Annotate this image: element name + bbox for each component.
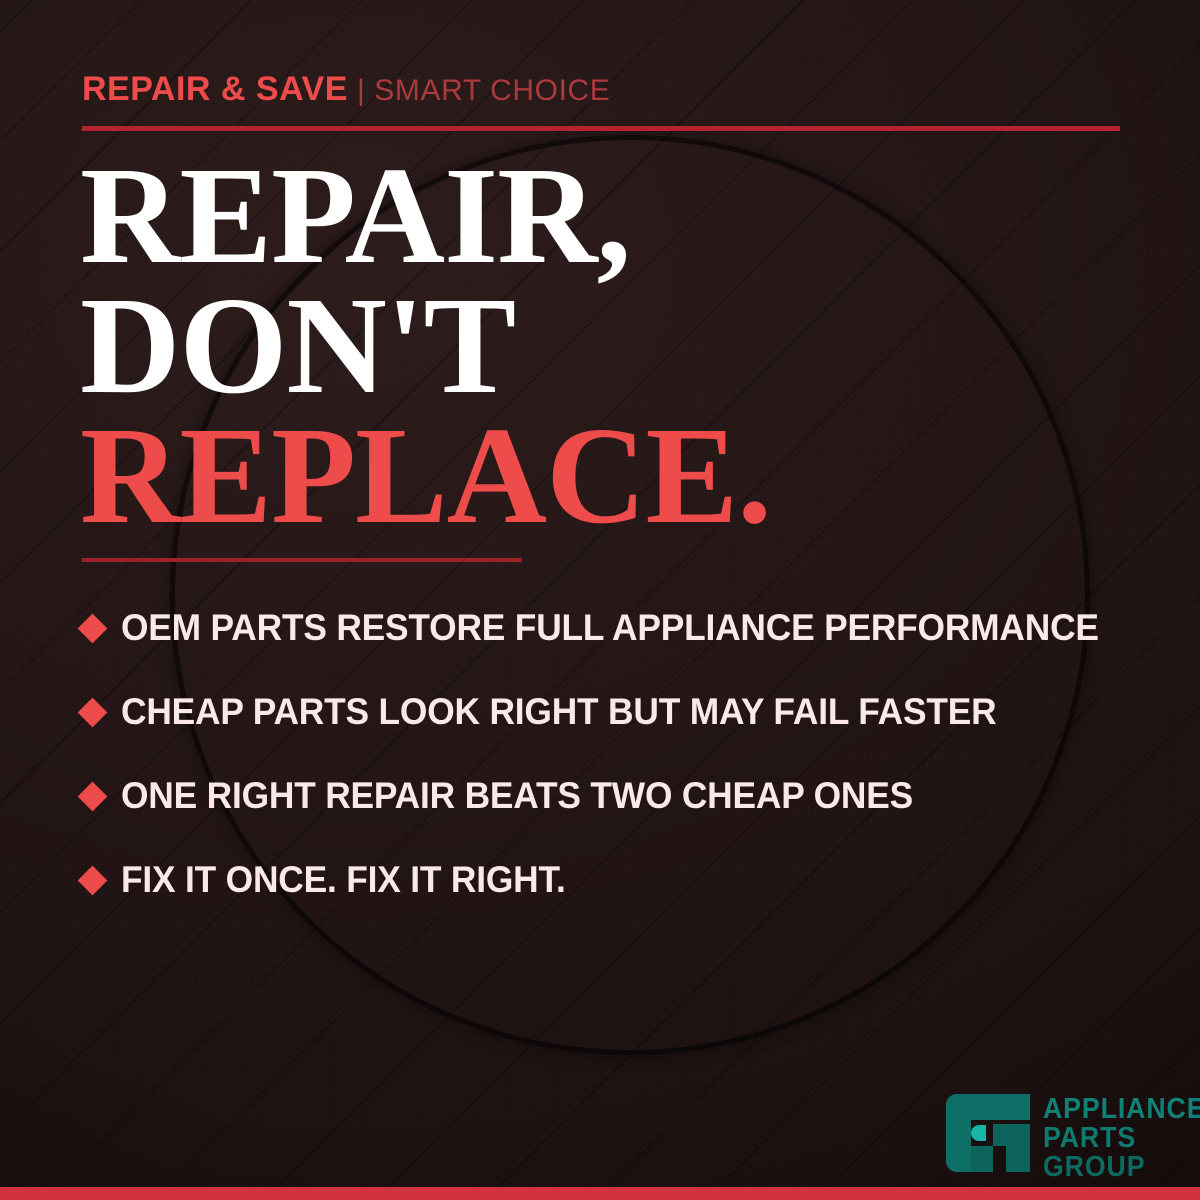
eyebrow-main-label: REPAIR & SAVE (82, 70, 348, 108)
list-item-label: OEM PARTS RESTORE FULL APPLIANCE PERFORM… (121, 607, 1099, 649)
diamond-bullet-icon (78, 613, 108, 643)
list-item: ONE RIGHT REPAIR BEATS TWO CHEAP ONES (82, 754, 1152, 838)
page-title: REPAIR, DON'T REPLACE. (80, 152, 771, 542)
list-item: OEM PARTS RESTORE FULL APPLIANCE PERFORM… (82, 586, 1152, 670)
list-item-label: CHEAP PARTS LOOK RIGHT BUT MAY FAIL FAST… (121, 691, 996, 733)
poster-content: REPAIR & SAVE| SMART CHOICE REPAIR, DON'… (0, 0, 1200, 1200)
headline-line-2: DON'T (80, 282, 771, 412)
headline-line-1: REPAIR, (80, 152, 771, 282)
brand-word-group: GROUP (1043, 1153, 1200, 1182)
brand-wordmark: APPLIANCE PARTS GROUP (1043, 1095, 1200, 1182)
brand-word-appliance: APPLIANCE (1043, 1095, 1200, 1124)
list-item: CHEAP PARTS LOOK RIGHT BUT MAY FAIL FAST… (82, 670, 1152, 754)
headline-line-3: REPLACE. (80, 412, 771, 542)
headline-divider-rule (82, 558, 522, 562)
diamond-bullet-icon (78, 697, 108, 727)
list-item-label: FIX IT ONCE. FIX IT RIGHT. (121, 859, 566, 901)
list-item-label: ONE RIGHT REPAIR BEATS TWO CHEAP ONES (121, 775, 913, 817)
eyebrow: REPAIR & SAVE| SMART CHOICE (82, 72, 610, 106)
benefits-list: OEM PARTS RESTORE FULL APPLIANCE PERFORM… (82, 586, 1152, 922)
promo-poster: REPAIR & SAVE| SMART CHOICE REPAIR, DON'… (0, 0, 1200, 1200)
diamond-bullet-icon (78, 781, 108, 811)
diamond-bullet-icon (78, 865, 108, 895)
list-item: FIX IT ONCE. FIX IT RIGHT. (82, 838, 1152, 922)
top-divider-rule (82, 126, 1120, 131)
brand-word-parts: PARTS (1043, 1124, 1200, 1153)
bottom-accent-bar (0, 1187, 1200, 1200)
brand-logo: APPLIANCE PARTS GROUP (946, 1094, 1200, 1182)
g-monogram-icon (946, 1094, 1030, 1172)
eyebrow-sub-label: | SMART CHOICE (357, 74, 610, 107)
